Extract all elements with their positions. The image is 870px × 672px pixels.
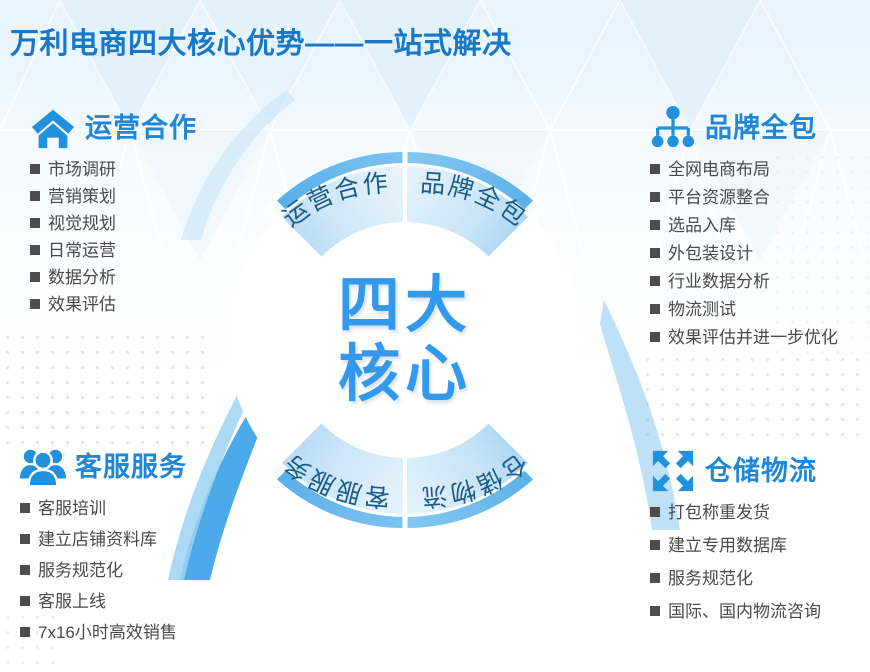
list-item-label: 客服上线 xyxy=(38,593,106,610)
list-item: 服务规范化 xyxy=(20,562,187,579)
list-item: 效果评估 xyxy=(30,296,197,313)
list-item: 视觉规划 xyxy=(30,215,197,232)
block-service: 客服服务 客服培训 建立店铺资料库 服务规范化 客服上线 7x16小时高效销售 xyxy=(20,443,187,655)
bullet-square-icon xyxy=(650,304,660,314)
list-item-label: 建立店铺资料库 xyxy=(38,531,157,548)
list-item: 行业数据分析 xyxy=(650,273,838,290)
list-item-label: 7x16小时高效销售 xyxy=(38,624,177,641)
list-item: 客服培训 xyxy=(20,500,187,517)
core-donut-chart: 运营合作 品牌全包 客服服务 仓储物流 xyxy=(193,128,617,552)
block-operation-title: 运营合作 xyxy=(85,115,197,142)
list-item: 物流测试 xyxy=(650,301,838,318)
list-item: 7x16小时高效销售 xyxy=(20,624,187,641)
list-item-label: 市场调研 xyxy=(48,161,116,178)
bullet-square-icon xyxy=(650,276,660,286)
list-item: 建立专用数据库 xyxy=(650,537,821,554)
users-icon xyxy=(20,444,66,490)
block-brand: 品牌全包 全网电商布局 平台资源整合 选品入库 外包装设计 行业数据分析 物流测… xyxy=(650,104,838,357)
list-item: 客服上线 xyxy=(20,593,187,610)
list-item-label: 选品入库 xyxy=(668,217,736,234)
list-item: 市场调研 xyxy=(30,161,197,178)
block-operation-list: 市场调研 营销策划 视觉规划 日常运营 数据分析 效果评估 xyxy=(30,161,197,313)
bullet-square-icon xyxy=(30,218,40,228)
list-item-label: 视觉规划 xyxy=(48,215,116,232)
bullet-square-icon xyxy=(20,627,30,637)
list-item-label: 平台资源整合 xyxy=(668,189,770,206)
block-service-title: 客服服务 xyxy=(75,454,187,481)
list-item-label: 效果评估 xyxy=(48,296,116,313)
list-item-label: 全网电商布局 xyxy=(668,161,770,178)
list-item-label: 行业数据分析 xyxy=(668,273,770,290)
bullet-square-icon xyxy=(650,220,660,230)
block-brand-title: 品牌全包 xyxy=(705,115,817,142)
list-item-label: 数据分析 xyxy=(48,269,116,286)
bullet-square-icon xyxy=(650,540,660,550)
list-item: 建立店铺资料库 xyxy=(20,531,187,548)
org-chart-icon xyxy=(650,105,696,151)
bullet-square-icon xyxy=(30,299,40,309)
list-item-label: 国际、国内物流咨询 xyxy=(668,603,821,620)
list-item: 数据分析 xyxy=(30,269,197,286)
block-logistics-list: 打包称重发货 建立专用数据库 服务规范化 国际、国内物流咨询 xyxy=(650,504,821,620)
list-item-label: 外包装设计 xyxy=(668,245,753,262)
bullet-square-icon xyxy=(20,565,30,575)
block-operation: 运营合作 市场调研 营销策划 视觉规划 日常运营 数据分析 效果评估 xyxy=(30,104,197,323)
bullet-square-icon xyxy=(30,164,40,174)
list-item-label: 客服培训 xyxy=(38,500,106,517)
list-item: 营销策划 xyxy=(30,188,197,205)
list-item-label: 日常运营 xyxy=(48,242,116,259)
block-logistics: 仓储物流 打包称重发货 建立专用数据库 服务规范化 国际、国内物流咨询 xyxy=(650,447,821,636)
list-item-label: 物流测试 xyxy=(668,301,736,318)
bullet-square-icon xyxy=(650,332,660,342)
list-item-label: 服务规范化 xyxy=(668,570,753,587)
infographic-canvas: 万利电商四大核心优势——一站式解决 xyxy=(0,0,870,672)
bullet-square-icon xyxy=(30,272,40,282)
bullet-square-icon xyxy=(650,248,660,258)
list-item: 日常运营 xyxy=(30,242,197,259)
block-logistics-header: 仓储物流 xyxy=(650,447,821,495)
list-item: 选品入库 xyxy=(650,217,838,234)
list-item: 国际、国内物流咨询 xyxy=(650,603,821,620)
bullet-square-icon xyxy=(20,534,30,544)
bullet-square-icon xyxy=(650,507,660,517)
list-item-label: 建立专用数据库 xyxy=(668,537,787,554)
block-service-list: 客服培训 建立店铺资料库 服务规范化 客服上线 7x16小时高效销售 xyxy=(20,500,187,641)
list-item: 外包装设计 xyxy=(650,245,838,262)
list-item: 全网电商布局 xyxy=(650,161,838,178)
bullet-square-icon xyxy=(650,164,660,174)
bullet-square-icon xyxy=(650,192,660,202)
bullet-square-icon xyxy=(650,573,660,583)
bullet-square-icon xyxy=(30,245,40,255)
block-brand-header: 品牌全包 xyxy=(650,104,838,152)
block-logistics-title: 仓储物流 xyxy=(705,458,817,485)
four-arrows-icon xyxy=(650,448,696,494)
list-item: 平台资源整合 xyxy=(650,189,838,206)
block-brand-list: 全网电商布局 平台资源整合 选品入库 外包装设计 行业数据分析 物流测试 效果评… xyxy=(650,161,838,346)
bullet-square-icon xyxy=(20,596,30,606)
list-item: 服务规范化 xyxy=(650,570,821,587)
list-item-label: 效果评估并进一步优化 xyxy=(668,329,838,346)
block-operation-header: 运营合作 xyxy=(30,104,197,152)
bullet-square-icon xyxy=(20,503,30,513)
block-service-header: 客服服务 xyxy=(20,443,187,491)
list-item: 打包称重发货 xyxy=(650,504,821,521)
dot-grid-left xyxy=(0,330,215,448)
list-item-label: 打包称重发货 xyxy=(668,504,770,521)
home-icon xyxy=(30,105,76,151)
page-title: 万利电商四大核心优势——一站式解决 xyxy=(10,20,512,62)
list-item-label: 营销策划 xyxy=(48,188,116,205)
dot-grid-right xyxy=(640,352,870,444)
donut-inner-hole xyxy=(287,222,523,458)
bullet-square-icon xyxy=(30,191,40,201)
list-item: 效果评估并进一步优化 xyxy=(650,329,838,346)
list-item-label: 服务规范化 xyxy=(38,562,123,579)
bullet-square-icon xyxy=(650,606,660,616)
